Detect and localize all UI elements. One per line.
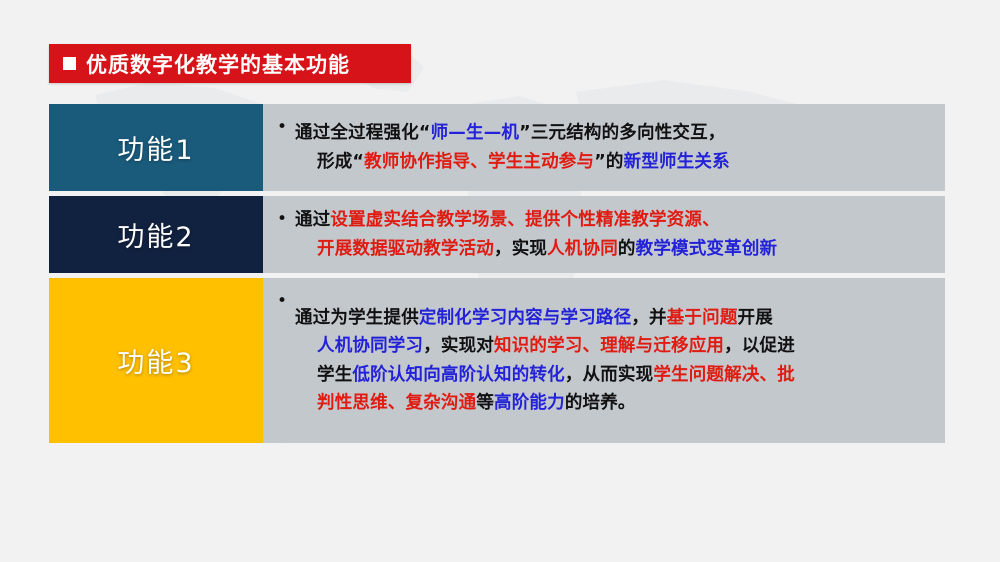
text-segment-blue: 低阶认知向高阶认知的转化 (352, 365, 564, 385)
text-segment-dark: 三元结构的多向性交互， (531, 123, 726, 143)
text-segment-dark: 形成 (317, 152, 352, 172)
text-segment-dark: ，从而实现 (565, 365, 654, 385)
text-segment-dark: 等 (476, 393, 494, 413)
function-text-line: 人机协同学习，实现对知识的学习、理解与迁移应用，以促进 (295, 332, 935, 360)
text-segment-dark: 的 (606, 152, 624, 172)
function-content-panel-3: •通过为学生提供定制化学习内容与学习路径，并基于问题开展人机协同学习，实现对知识… (263, 278, 945, 443)
bullet-icon: • (277, 211, 295, 228)
text-segment-dark: ，实现对 (423, 336, 494, 356)
function-label-box-1: 功能1 (49, 104, 263, 191)
text-segment-dark: ，实现 (494, 239, 547, 259)
function-text-line: 通过全过程强化“师—生—机”三元结构的多向性交互， (295, 119, 935, 147)
text-segment-dark: 通过全过程强化 (295, 123, 419, 143)
text-segment-red: 开展数据驱动教学活动 (317, 239, 494, 259)
text-segment-blue: 定制化学习内容与学习路径 (419, 308, 631, 328)
function-text-line: 形成“教师协作指导、学生主动参与”的新型师生关系 (295, 148, 935, 176)
text-segment-dark: ” (594, 152, 606, 172)
function-text-lines: 通过设置虚实结合教学场景、提供个性精准教学资源、开展数据驱动教学活动，实现人机协… (295, 206, 935, 263)
text-segment-dark: 开展 (738, 308, 773, 328)
function-label-text: 功能1 (117, 128, 194, 167)
text-segment-dark: ，以促进 (724, 336, 795, 356)
function-text-lines: 通过为学生提供定制化学习内容与学习路径，并基于问题开展人机协同学习，实现对知识的… (295, 304, 935, 417)
function-text-lines: 通过全过程强化“师—生—机”三元结构的多向性交互，形成“教师协作指导、学生主动参… (295, 119, 935, 176)
function-text-line: 判性思维、复杂沟通等高阶能力的培养。 (295, 389, 935, 417)
function-content-panel-1: •通过全过程强化“师—生—机”三元结构的多向性交互，形成“教师协作指导、学生主动… (263, 104, 945, 191)
function-label-box-3: 功能3 (49, 278, 263, 443)
bullet-icon: • (277, 119, 295, 136)
text-segment-dark: 通过 (295, 210, 330, 230)
function-row: 功能2•通过设置虚实结合教学场景、提供个性精准教学资源、开展数据驱动教学活动，实… (49, 196, 945, 273)
text-segment-blue: 高阶能力 (494, 393, 565, 413)
text-segment-dark: 通过为学生提供 (295, 308, 419, 328)
text-segment-red: 知识的学习、理解与迁移应用 (494, 336, 724, 356)
text-segment-blue: 教学模式变革创新 (636, 239, 778, 259)
text-segment-red: 学生问题解决、批 (653, 365, 795, 385)
text-segment-blue: 师—生—机 (431, 123, 520, 143)
function-row: 功能3•通过为学生提供定制化学习内容与学习路径，并基于问题开展人机协同学习，实现… (49, 278, 945, 443)
text-segment-dark: “ (419, 123, 431, 143)
function-text-line: 学生低阶认知向高阶认知的转化，从而实现学生问题解决、批 (295, 361, 935, 389)
text-segment-red: 设置虚实结合教学场景、提供个性精准教学资源、 (330, 210, 719, 230)
text-segment-dark: ” (519, 123, 531, 143)
text-segment-red: 人机协同 (547, 239, 618, 259)
square-bullet-icon (63, 57, 76, 70)
text-segment-dark: 学生 (317, 365, 352, 385)
text-segment-red: 基于问题 (667, 308, 738, 328)
text-segment-blue: 新型师生关系 (624, 152, 730, 172)
text-segment-dark: 的 (618, 239, 636, 259)
page-title: 优质数字化教学的基本功能 (86, 49, 350, 79)
text-segment-red: 教师协作指导、学生主动参与 (364, 152, 594, 172)
function-text-line: 开展数据驱动教学活动，实现人机协同的教学模式变革创新 (295, 235, 935, 263)
function-label-box-2: 功能2 (49, 196, 263, 273)
function-content-panel-2: •通过设置虚实结合教学场景、提供个性精准教学资源、开展数据驱动教学活动，实现人机… (263, 196, 945, 273)
text-segment-red: 判性思维、复杂沟通 (317, 393, 476, 413)
function-label-text: 功能3 (117, 341, 194, 380)
text-segment-dark: “ (352, 152, 364, 172)
function-label-text: 功能2 (117, 215, 194, 254)
function-row: 功能1•通过全过程强化“师—生—机”三元结构的多向性交互，形成“教师协作指导、学… (49, 104, 945, 191)
function-text-line: 通过为学生提供定制化学习内容与学习路径，并基于问题开展 (295, 304, 935, 332)
text-segment-dark: 的培养。 (565, 393, 636, 413)
function-text-line: 通过设置虚实结合教学场景、提供个性精准教学资源、 (295, 206, 935, 234)
bullet-icon: • (277, 293, 295, 310)
slide-title-banner: 优质数字化教学的基本功能 (49, 44, 411, 83)
text-segment-dark: ，并 (631, 308, 666, 328)
text-segment-blue: 人机协同学习 (317, 336, 423, 356)
